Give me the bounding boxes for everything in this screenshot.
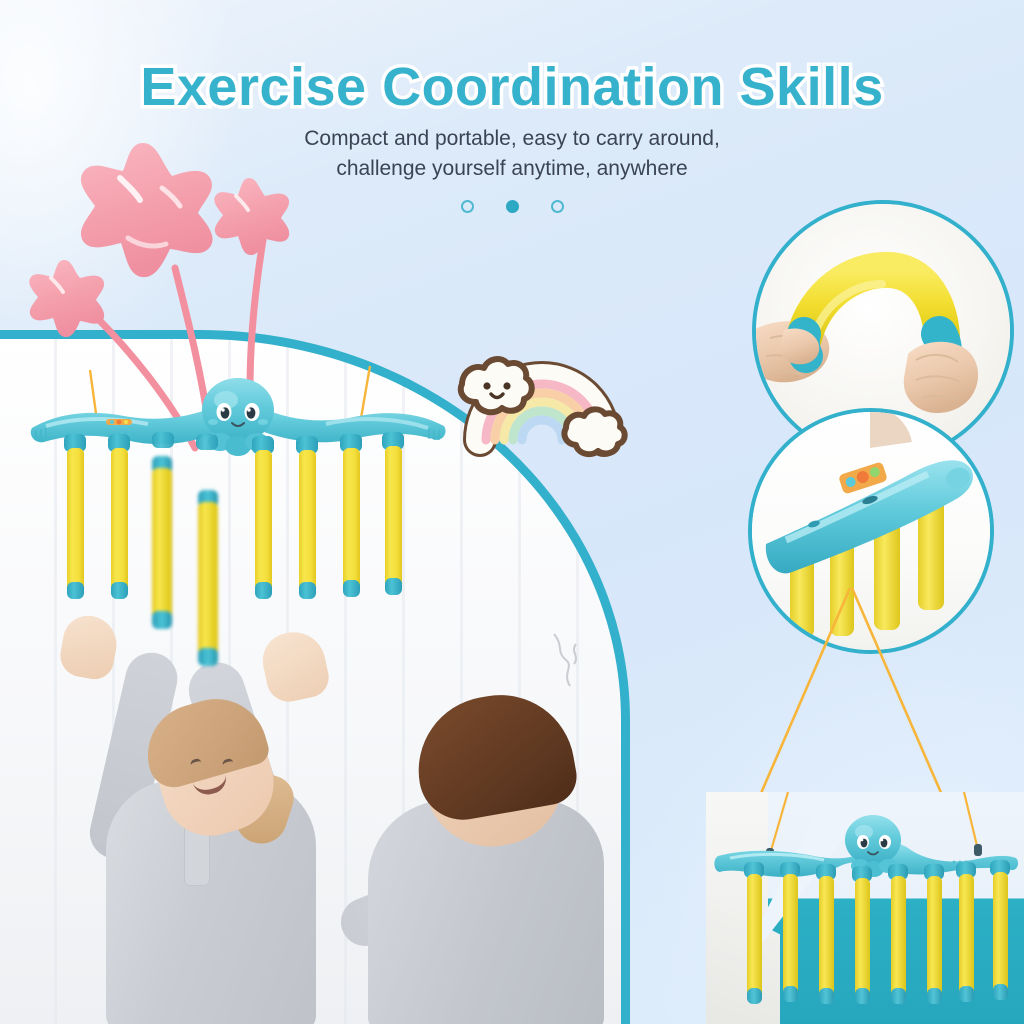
cloud-left-smiling <box>461 359 532 412</box>
product-marketing-banner: Exercise Coordination Skills Compact and… <box>0 0 1024 1024</box>
stick-6 <box>296 436 318 599</box>
cloud-right <box>564 409 624 454</box>
subtitle-line-2: challenge yourself anytime, anywhere <box>0 154 1024 184</box>
full-product-photo <box>706 792 1024 1024</box>
falling-sticks <box>140 448 260 688</box>
stick-7 <box>340 434 362 597</box>
control-button-3 <box>124 420 128 424</box>
carousel-dot-1[interactable] <box>461 200 474 213</box>
hang-string-right-long <box>852 588 952 818</box>
bp-string-left <box>770 792 788 854</box>
page-title: Exercise Coordination Skills <box>0 56 1024 118</box>
stick-8 <box>382 432 404 595</box>
carousel-dot-3[interactable] <box>551 200 564 213</box>
product-hanging-strings <box>740 586 1024 826</box>
stick-2 <box>108 434 130 599</box>
carousel-dots[interactable] <box>0 200 1024 213</box>
falling-stick-2 <box>198 490 218 666</box>
curtain-squiggle <box>550 630 610 700</box>
hang-string-left-long <box>752 588 850 814</box>
bp-string-right <box>964 792 978 850</box>
rainbow-cloud-sticker <box>440 342 640 452</box>
stick-3-empty-slot <box>152 432 174 448</box>
boy-back-view <box>338 700 630 1024</box>
subtitle-line-1: Compact and portable, easy to carry arou… <box>0 124 1024 154</box>
control-button-2 <box>117 420 122 425</box>
falling-stick-1 <box>152 456 172 629</box>
right-hand <box>904 342 978 413</box>
girl-reaching-up <box>66 670 366 1024</box>
bp-sticks <box>744 860 1010 1004</box>
carousel-dot-2[interactable] <box>506 200 519 213</box>
control-button-1 <box>110 420 114 424</box>
bottom-product-toy <box>706 792 1024 1024</box>
stick-1 <box>64 434 86 599</box>
page-subtitle: Compact and portable, easy to carry arou… <box>0 124 1024 184</box>
